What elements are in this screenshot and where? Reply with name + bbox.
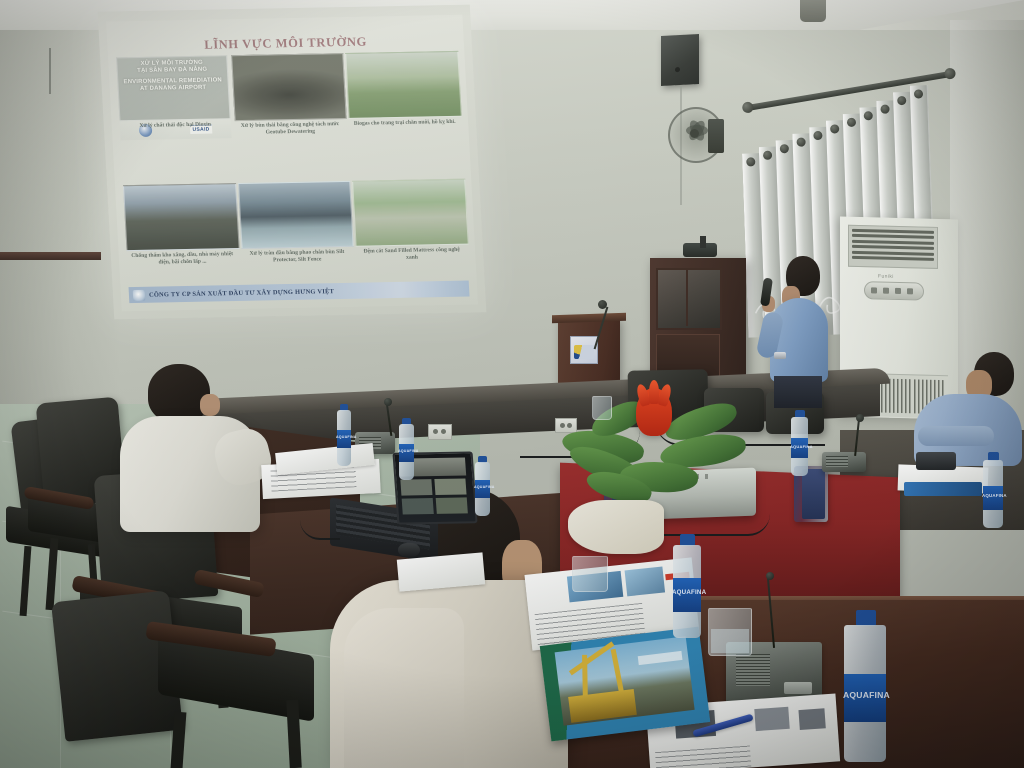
curtain-grommet [914,89,923,98]
slide-caption-2: Xử lý bùn thải bằng công nghệ tách nước … [234,119,346,140]
company-logo-icon [133,289,146,300]
notebook[interactable] [904,482,982,496]
curtain-grommet [780,144,789,153]
white-cloth [568,500,664,554]
water-bottle[interactable]: AQUAFINA [790,410,809,476]
attendee-foreground-shoulder [344,608,464,768]
cabinet-top [0,252,101,260]
water-bottle[interactable]: AQUAFINA [982,452,1004,528]
bottle-brand: AQUAFINA [336,435,352,439]
drinking-glass[interactable] [572,556,608,592]
bottle-brand: AQUAFINA [474,485,491,489]
slide-row-2: Chống thấm kho xăng, dầu, nhà máy nhiệt … [123,179,468,270]
bromeliad-plant [560,386,750,508]
conference-microphone-unit[interactable] [822,452,866,472]
speaker-driver [675,67,680,72]
curtain-grommet [746,157,755,166]
cabinet-glass-door[interactable] [656,268,722,330]
bottle-brand: AQUAFINA [843,690,887,700]
ac-brand-mark: Funiki [878,273,894,279]
bottle-brand: AQUAFINA [398,449,415,453]
slide-title-panel: XỬ LÝ MÔI TRƯỜNG TẠI SÂN BAY ĐÀ NẴNG ENV… [116,55,230,121]
attendee-left-seated [120,364,270,564]
chair-empty[interactable] [50,596,300,768]
conference-room-photo: LĨNH VỰC MÔI TRƯỜNG XỬ LÝ MÔI TRƯỜNG TẠI… [0,0,1024,768]
red-flower-icon [636,388,672,436]
brochure-cover-photo [555,636,695,726]
slide-footer-banner: CÔNG TY CP SẢN XUẤT ĐẦU TƯ XÂY DỰNG HƯNG… [129,281,470,304]
ac-vent-grille [848,225,938,269]
curtain-grommet [813,131,822,140]
cabinet-divider [686,268,688,326]
ac-control-panel[interactable] [864,281,924,300]
panel-line-en-2: AT DANANG AIRPORT [140,85,207,94]
projected-slide: LĨNH VỰC MÔI TRƯỜNG XỬ LÝ MÔI TRƯỜNG TẠI… [106,15,478,311]
slide-caption-4: Chống thấm kho xăng, dầu, nhà máy nhiệt … [127,249,239,270]
slide-photo-tank-farm [123,183,239,251]
bottle-brand: AQUAFINA [672,589,702,596]
wall-speaker-icon [661,34,699,86]
water-bottle[interactable]: AQUAFINA [398,418,415,480]
wristwatch [774,352,786,359]
slide-caption-6: Đệm cát Sand Filled Mattress công nghệ x… [356,245,468,266]
fan-wall-mount [708,119,724,153]
wall-fan-icon [668,105,730,163]
curtain-grommet [864,111,873,120]
presenter-standing [752,256,848,406]
podium-microphone-icon [598,300,607,309]
power-outlet[interactable] [428,424,452,440]
projection-screen: LĨNH VỰC MÔI TRƯỜNG XỬ LÝ MÔI TRƯỜNG TẠI… [98,5,487,320]
fan-hub [690,129,699,138]
podium-emblem-icon [570,336,598,364]
slide-cell-tank: Chống thấm kho xăng, dầu, nhà máy nhiệt … [123,183,238,269]
curtain-grommet [897,96,906,105]
slide-caption-5: Xử lý tràn dầu bằng phao chắn bùn Silt P… [241,247,353,268]
slide-caption-3: Biogas cho trang trại chăn nuôi, hồ kỵ k… [349,117,460,130]
water-bottle[interactable]: AQUAFINA [672,534,702,638]
curtain-grommet [763,151,772,160]
attendee-right-arms-crossed [918,426,994,446]
water-bottle[interactable]: AQUAFINA [843,610,887,762]
construction-brochure[interactable] [540,627,711,742]
bottle-brand: AQUAFINA [982,493,1004,498]
slide-cell-boom: Xử lý tràn dầu bằng phao chắn bùn Silt P… [238,181,353,267]
slide-cell-title-panel: XỬ LÝ MÔI TRƯỜNG TẠI SÂN BAY ĐÀ NẴNG ENV… [116,55,231,141]
slide-cell-geotube: Xử lý bùn thải bằng công nghệ tách nước … [231,53,346,139]
slide-row-1: XỬ LÝ MÔI TRƯỜNG TẠI SÂN BAY ĐÀ NẴNG ENV… [116,51,461,142]
slide-photo-geotube [231,53,347,121]
slide-cell-mattress: Đệm cát Sand Filled Mattress công nghệ x… [352,179,467,265]
bottle-brand: AQUAFINA [790,444,809,449]
company-name: CÔNG TY CP SẢN XUẤT ĐẦU TƯ XÂY DỰNG HƯNG… [149,288,334,299]
slide-cell-biogas: Biogas cho trang trại chăn nuôi, hồ kỵ k… [346,51,461,137]
mic-unit-label [784,682,812,694]
computer-mouse[interactable] [398,543,420,557]
water-bottle[interactable]: AQUAFINA [474,456,491,516]
presenter-trousers [774,376,822,408]
curtain-grommet [830,124,839,133]
slide-caption-1: Xử lý chất thải độc hại Dioxin [120,119,231,132]
fan-pull-cord [49,48,51,94]
slide-photo-silt-boom [238,181,354,249]
panel-line-vi-2: TẠI SÂN BAY ĐÀ NẴNG [137,67,207,76]
slide-photo-biogas [346,51,462,119]
handout-photo [625,567,666,597]
curtain-grommet [847,118,856,127]
smartphone[interactable] [916,452,956,470]
projector-cable [660,514,770,536]
ceiling-fixture [800,0,826,22]
cabinet-top-item [700,236,706,248]
slide-photo-sand-mattress [352,179,468,247]
drinking-glass[interactable] [592,396,612,420]
curtain-grommet [880,105,889,114]
microphone-head-icon [384,398,392,406]
curtain-grommet [796,137,805,146]
microphone-head-icon [766,572,774,580]
drinking-glass[interactable] [708,608,752,656]
microphone-head-icon [856,414,864,422]
water-bottle[interactable]: AQUAFINA [336,404,352,466]
